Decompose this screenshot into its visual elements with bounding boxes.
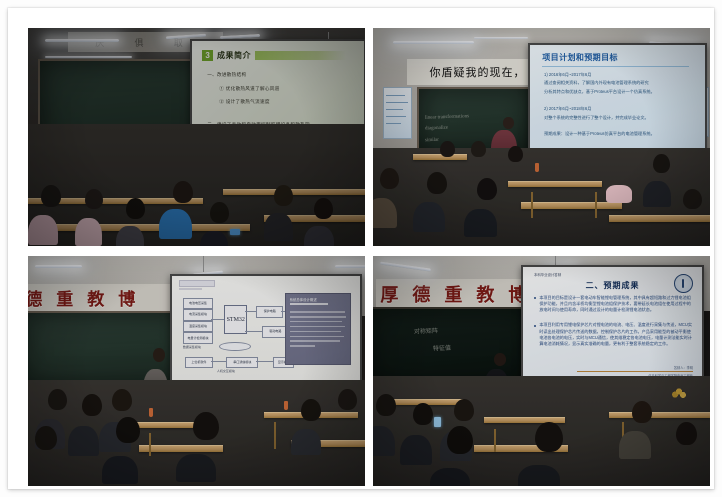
ceiling-light (474, 37, 528, 39)
motto-char: 博 (118, 285, 135, 310)
diagram-cpu-block: STM32 (224, 305, 247, 335)
water-bottle (284, 401, 288, 410)
diagram-block: 串口通信模块 (226, 357, 258, 369)
audience-head (376, 394, 396, 416)
diagram-wire (211, 319, 224, 320)
desk-leg (274, 422, 276, 450)
slide-line: 通过查阅相关资料，了解国内外现有电池管理系统的研究 (544, 80, 649, 86)
diagram-block: 电流采集模块 (183, 309, 213, 321)
audience-head (413, 403, 433, 425)
audience-head (440, 141, 455, 157)
audience-body (102, 456, 138, 484)
diagram-wire (245, 311, 256, 312)
water-bottle (535, 163, 539, 172)
slide-bullet: 本项目的目标是设计一套电动车智能锂电管理系统，其中具有超短路和过力锂电池组保护功… (539, 295, 693, 314)
slide-title-bar: 3 成果简介 (202, 48, 346, 63)
audience-head (380, 168, 399, 189)
diagram-block: 电量计检测模块 (183, 332, 213, 344)
audience-head (173, 181, 193, 203)
audience-body (116, 226, 144, 246)
slide-header-line (179, 288, 202, 290)
collage-frame: 厌 俱 取 3 (8, 8, 714, 489)
diagram-cloud (219, 342, 251, 351)
audience-body (28, 215, 58, 245)
slide-line: 1) 2016年6月~2017年6月 (544, 72, 591, 78)
desk-row (139, 445, 223, 452)
projector-rod (203, 256, 204, 272)
slide-bullet: 本项目利用专用锂电保护芯片对锂电池的电流、电压、温度进行采集与传送，MCU实时读… (539, 322, 693, 347)
ceiling-light (393, 41, 474, 44)
ceiling-light (45, 39, 119, 42)
audience-body (75, 218, 102, 246)
audience-body (159, 209, 192, 239)
motto-char: 德 (412, 281, 430, 307)
bullet-marker (534, 325, 536, 327)
potted-plant (670, 385, 688, 401)
audience-head (427, 172, 447, 194)
slide-header: 本科毕业设计答辩 (534, 272, 561, 277)
diagram-wire (211, 361, 226, 362)
audience-head (193, 412, 219, 440)
motto-char: 德 (28, 285, 42, 310)
audience-body (176, 454, 216, 482)
slide-title: 项目计划和预期目标 (542, 52, 618, 63)
photo-collage: 厌 俱 取 3 (0, 0, 722, 497)
audience-phone-screen (434, 417, 441, 427)
audience-body (68, 426, 99, 456)
diagram-wire (245, 331, 262, 332)
wall-poster (383, 87, 412, 139)
diagram-block: 温度采集模块 (183, 321, 213, 333)
slide-line: 2) 2017年6月~2018年6月 (544, 106, 591, 112)
audience-body (643, 181, 671, 207)
audience-head (338, 389, 357, 410)
audience-head (82, 394, 102, 416)
slide-content: 项目计划和预期目标 1) 2016年6月~2017年6月 通过查阅相关资料，了解… (530, 45, 705, 152)
audience-body (464, 209, 497, 237)
audience-head (35, 426, 57, 450)
projection-screen: 项目计划和预期目标 1) 2016年6月~2017年6月 通过查阅相关资料，了解… (528, 43, 707, 154)
audience-head (508, 146, 523, 162)
ceiling-light (335, 265, 365, 268)
audience-head (454, 399, 474, 421)
audience-head (535, 422, 563, 452)
audience-head (471, 141, 486, 157)
chalk-text: diagonalize (425, 125, 448, 133)
audience-head (314, 198, 333, 219)
slide-title: 二、预期成果 (523, 280, 702, 291)
wall-banner: 你盾疑我的现在， (407, 59, 549, 85)
audience-head (210, 202, 229, 223)
slide-header-box (179, 280, 215, 287)
audience-body (304, 226, 334, 246)
audience-body (619, 431, 651, 459)
presenter-head (153, 348, 165, 362)
slide-content: 电池电压采集 电流采集模块 温度采集模块 电量计检测模块 数据采集模块 STM3… (172, 276, 361, 382)
diagram-block: 电池电压采集 (183, 298, 213, 310)
desk-row (609, 412, 710, 418)
audience-head (632, 401, 652, 423)
desk-row (508, 181, 602, 187)
audience-head (85, 189, 103, 209)
slide-title: 成果简介 (217, 50, 251, 61)
panel-title: 系统总体设计概述 (290, 297, 317, 302)
photo-top-right: 你盾疑我的现在， linear transformations diagonal… (373, 28, 710, 246)
diagram-group-label: 数据采集模块 (183, 345, 201, 349)
audience-head (683, 189, 702, 209)
slide-section-number: 3 (202, 50, 213, 61)
audience-body (264, 213, 293, 241)
slide-title-accent (255, 51, 346, 60)
audience-head (274, 185, 293, 206)
audience-head (48, 389, 67, 410)
slide-footer: 答辩人：李明 (674, 365, 693, 370)
desk-row (223, 189, 365, 195)
desk-row (129, 422, 203, 428)
chalk-text: linear transformations (425, 113, 469, 122)
motto-char: 重 (444, 281, 462, 307)
motto-char: 教 (87, 285, 104, 310)
projection-screen: 电池电压采集 电流采集模块 温度采集模块 电量计检测模块 数据采集模块 STM3… (170, 274, 363, 384)
audience-head (116, 417, 140, 443)
ceiling-light (35, 265, 82, 268)
diagram-wire (256, 361, 273, 362)
audience-head (301, 399, 321, 421)
water-bottle (149, 408, 153, 417)
audience-head (653, 154, 670, 173)
chalk-text: similar (425, 137, 439, 144)
audience-head (477, 178, 497, 200)
audience-body (606, 185, 632, 203)
audience-head (447, 426, 473, 454)
presenter-head (494, 353, 506, 366)
motto-char: 重 (56, 285, 73, 310)
audience-body (291, 429, 321, 455)
slide-side-panel: 系统总体设计概述 (285, 293, 351, 365)
audience-body (413, 202, 445, 232)
desk-row (41, 224, 250, 231)
slide-line: 对整个系统的完整性进行了整个设计，并完成毕业论文。 (544, 115, 649, 121)
slide-line: 预期成果：设计一种基于Proteus仿真平台的电池管理系统。 (544, 131, 655, 137)
projection-screen: 本科毕业设计答辩 二、预期成果 本项目的目标是设计一套电动车智能锂电管理系统，其… (521, 265, 704, 384)
diagram-block: 上位机软件 (185, 357, 213, 369)
desk-leg (149, 433, 151, 456)
bullet-marker (534, 297, 536, 299)
desk-row (521, 202, 622, 209)
diagram-block: 保护电路 (256, 306, 283, 318)
desk-leg (595, 192, 597, 218)
photo-bottom-right: 厚 德 重 教 博 对称矩阵 特征值 本科毕业设计答辩 (373, 256, 710, 486)
photo-bottom-left: 德 重 教 博 电池电压采集 电 (28, 256, 365, 486)
audience-body (518, 465, 560, 486)
slide-line: ② 设计了散热气流速度 (219, 99, 270, 105)
audience-head (41, 185, 61, 207)
audience-phone-screen (230, 229, 240, 235)
audience-head (676, 422, 697, 445)
photo-top-left: 厌 俱 取 3 (28, 28, 365, 246)
audience-body (400, 435, 432, 465)
slide-content: 本科毕业设计答辩 二、预期成果 本项目的目标是设计一套电动车智能锂电管理系统，其… (523, 267, 702, 382)
wall-banner-text: 你盾疑我的现在， (429, 64, 525, 80)
motto-char: 厚 (380, 281, 398, 307)
desk-row (413, 154, 467, 160)
presenter-head (503, 117, 514, 129)
audience-head (126, 198, 145, 219)
slide-rule (542, 66, 689, 67)
desk-leg (531, 192, 533, 218)
desk-row (609, 215, 710, 222)
audience-head (112, 389, 132, 411)
diagram-group-label: 人机交互模块 (217, 369, 235, 373)
slide-line: 分析其特点和优缺点，基于Proteus平台设计一个仿真系统。 (544, 89, 655, 95)
slide-line: 一、改进散热结构 (207, 72, 246, 78)
motto-char: 教 (476, 281, 494, 307)
slide-line: ① 优化散热风道了解心风道 (219, 86, 279, 92)
desk-leg (494, 429, 496, 452)
slide-footer-rule (577, 371, 693, 372)
